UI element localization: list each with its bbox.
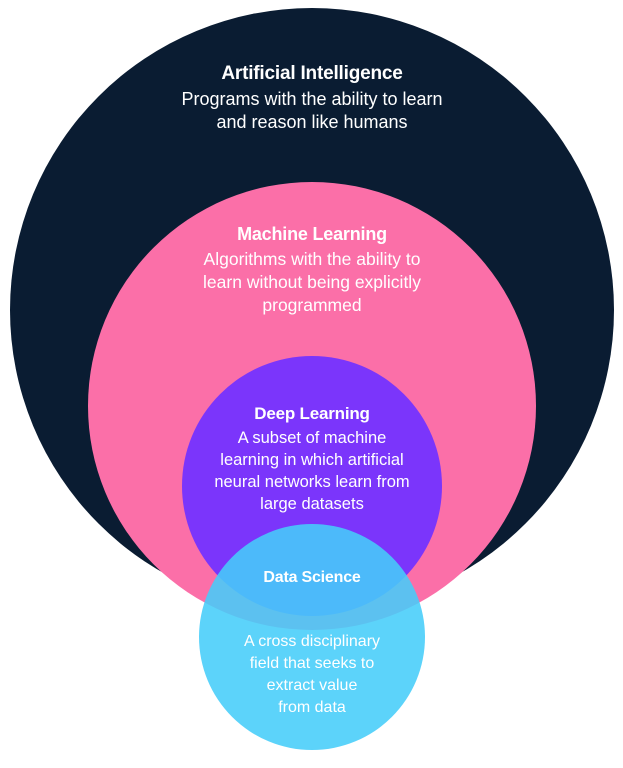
venn-circles-svg (0, 0, 623, 768)
venn-diagram: Artificial Intelligence Programs with th… (0, 0, 623, 768)
circle-data-science[interactable] (199, 524, 425, 750)
